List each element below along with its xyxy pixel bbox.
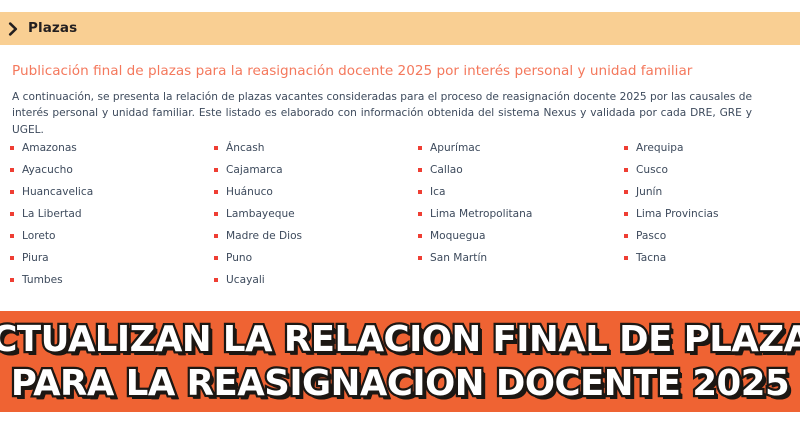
bullet-square-icon [418, 190, 422, 194]
plazas-header-title: Plazas [28, 22, 77, 36]
region-label: Cajamarca [226, 164, 283, 176]
page-title: Publicación final de plazas para la reas… [12, 45, 788, 79]
list-item[interactable]: Puno [214, 247, 409, 269]
region-label: Loreto [22, 230, 55, 242]
region-label: Arequipa [636, 142, 684, 154]
list-item[interactable]: Madre de Dios [214, 225, 409, 247]
list-item[interactable]: Tumbes [10, 269, 202, 291]
regions-column-1: AmazonasAyacuchoHuancavelicaLa LibertadL… [0, 137, 202, 291]
region-label: San Martín [430, 252, 487, 264]
region-label: Ica [430, 186, 445, 198]
list-item[interactable]: Cajamarca [214, 159, 409, 181]
bullet-square-icon [214, 190, 218, 194]
region-label: Amazonas [22, 142, 77, 154]
list-item[interactable]: Pasco [624, 225, 800, 247]
region-label: Lima Metropolitana [430, 208, 532, 220]
region-label: Huancavelica [22, 186, 93, 198]
bullet-square-icon [624, 168, 628, 172]
bullet-square-icon [624, 190, 628, 194]
intro-paragraph: A continuación, se presenta la relación … [12, 79, 752, 137]
region-label: Áncash [226, 142, 265, 154]
bullet-square-icon [214, 212, 218, 216]
region-label: Moquegua [430, 230, 486, 242]
regions-column-3: ApurímacCallaoIcaLima MetropolitanaMoque… [409, 137, 612, 291]
list-item[interactable]: Cusco [624, 159, 800, 181]
promo-banner-line-2: PARA LA REASIGNACION DOCENTE 2025 [11, 362, 789, 406]
chevron-right-icon [7, 22, 21, 36]
bullet-square-icon [418, 168, 422, 172]
region-label: Huánuco [226, 186, 273, 198]
bullet-square-icon [10, 256, 14, 260]
list-item[interactable]: Huancavelica [10, 181, 202, 203]
bullet-square-icon [624, 146, 628, 150]
region-label: La Libertad [22, 208, 82, 220]
list-item[interactable]: Tacna [624, 247, 800, 269]
bullet-square-icon [214, 278, 218, 282]
region-label: Tumbes [22, 274, 63, 286]
region-label: Apurímac [430, 142, 481, 154]
list-item[interactable]: Lima Metropolitana [418, 203, 612, 225]
list-item[interactable]: Ayacucho [10, 159, 202, 181]
list-item[interactable]: Lima Provincias [624, 203, 800, 225]
bullet-square-icon [10, 190, 14, 194]
list-item[interactable]: Moquegua [418, 225, 612, 247]
list-item[interactable]: Loreto [10, 225, 202, 247]
region-label: Tacna [636, 252, 666, 264]
list-item[interactable]: La Libertad [10, 203, 202, 225]
list-item[interactable]: Arequipa [624, 137, 800, 159]
region-label: Pasco [636, 230, 666, 242]
promo-banner: ACTUALIZAN LA RELACION FINAL DE PLAZAS P… [0, 311, 800, 412]
bullet-square-icon [624, 256, 628, 260]
plazas-header-bar[interactable]: Plazas [0, 12, 800, 45]
list-item[interactable]: San Martín [418, 247, 612, 269]
list-item[interactable]: Ica [418, 181, 612, 203]
list-item[interactable]: Áncash [214, 137, 409, 159]
bullet-square-icon [214, 146, 218, 150]
list-item[interactable]: Amazonas [10, 137, 202, 159]
bullet-square-icon [10, 234, 14, 238]
list-item[interactable]: Apurímac [418, 137, 612, 159]
list-item[interactable]: Callao [418, 159, 612, 181]
promo-banner-line-1: ACTUALIZAN LA RELACION FINAL DE PLAZAS [0, 318, 800, 362]
bullet-square-icon [214, 256, 218, 260]
list-item[interactable]: Lambayeque [214, 203, 409, 225]
bullet-square-icon [624, 212, 628, 216]
region-label: Lima Provincias [636, 208, 719, 220]
region-label: Piura [22, 252, 49, 264]
list-item[interactable]: Ucayali [214, 269, 409, 291]
bullet-square-icon [624, 234, 628, 238]
region-label: Junín [636, 186, 662, 198]
region-label: Ayacucho [22, 164, 73, 176]
bullet-square-icon [214, 234, 218, 238]
bullet-square-icon [418, 256, 422, 260]
region-label: Madre de Dios [226, 230, 302, 242]
bullet-square-icon [10, 212, 14, 216]
bullet-square-icon [10, 278, 14, 282]
regions-grid: AmazonasAyacuchoHuancavelicaLa LibertadL… [0, 137, 800, 291]
region-label: Puno [226, 252, 252, 264]
list-item[interactable]: Junín [624, 181, 800, 203]
region-label: Lambayeque [226, 208, 295, 220]
regions-column-4: ArequipaCuscoJunínLima ProvinciasPascoTa… [612, 137, 800, 291]
region-label: Callao [430, 164, 463, 176]
bullet-square-icon [418, 234, 422, 238]
bullet-square-icon [214, 168, 218, 172]
bullet-square-icon [418, 212, 422, 216]
regions-column-2: ÁncashCajamarcaHuánucoLambayequeMadre de… [202, 137, 409, 291]
bullet-square-icon [10, 168, 14, 172]
list-item[interactable]: Piura [10, 247, 202, 269]
list-item[interactable]: Huánuco [214, 181, 409, 203]
bullet-square-icon [418, 146, 422, 150]
region-label: Ucayali [226, 274, 265, 286]
region-label: Cusco [636, 164, 668, 176]
bullet-square-icon [10, 146, 14, 150]
